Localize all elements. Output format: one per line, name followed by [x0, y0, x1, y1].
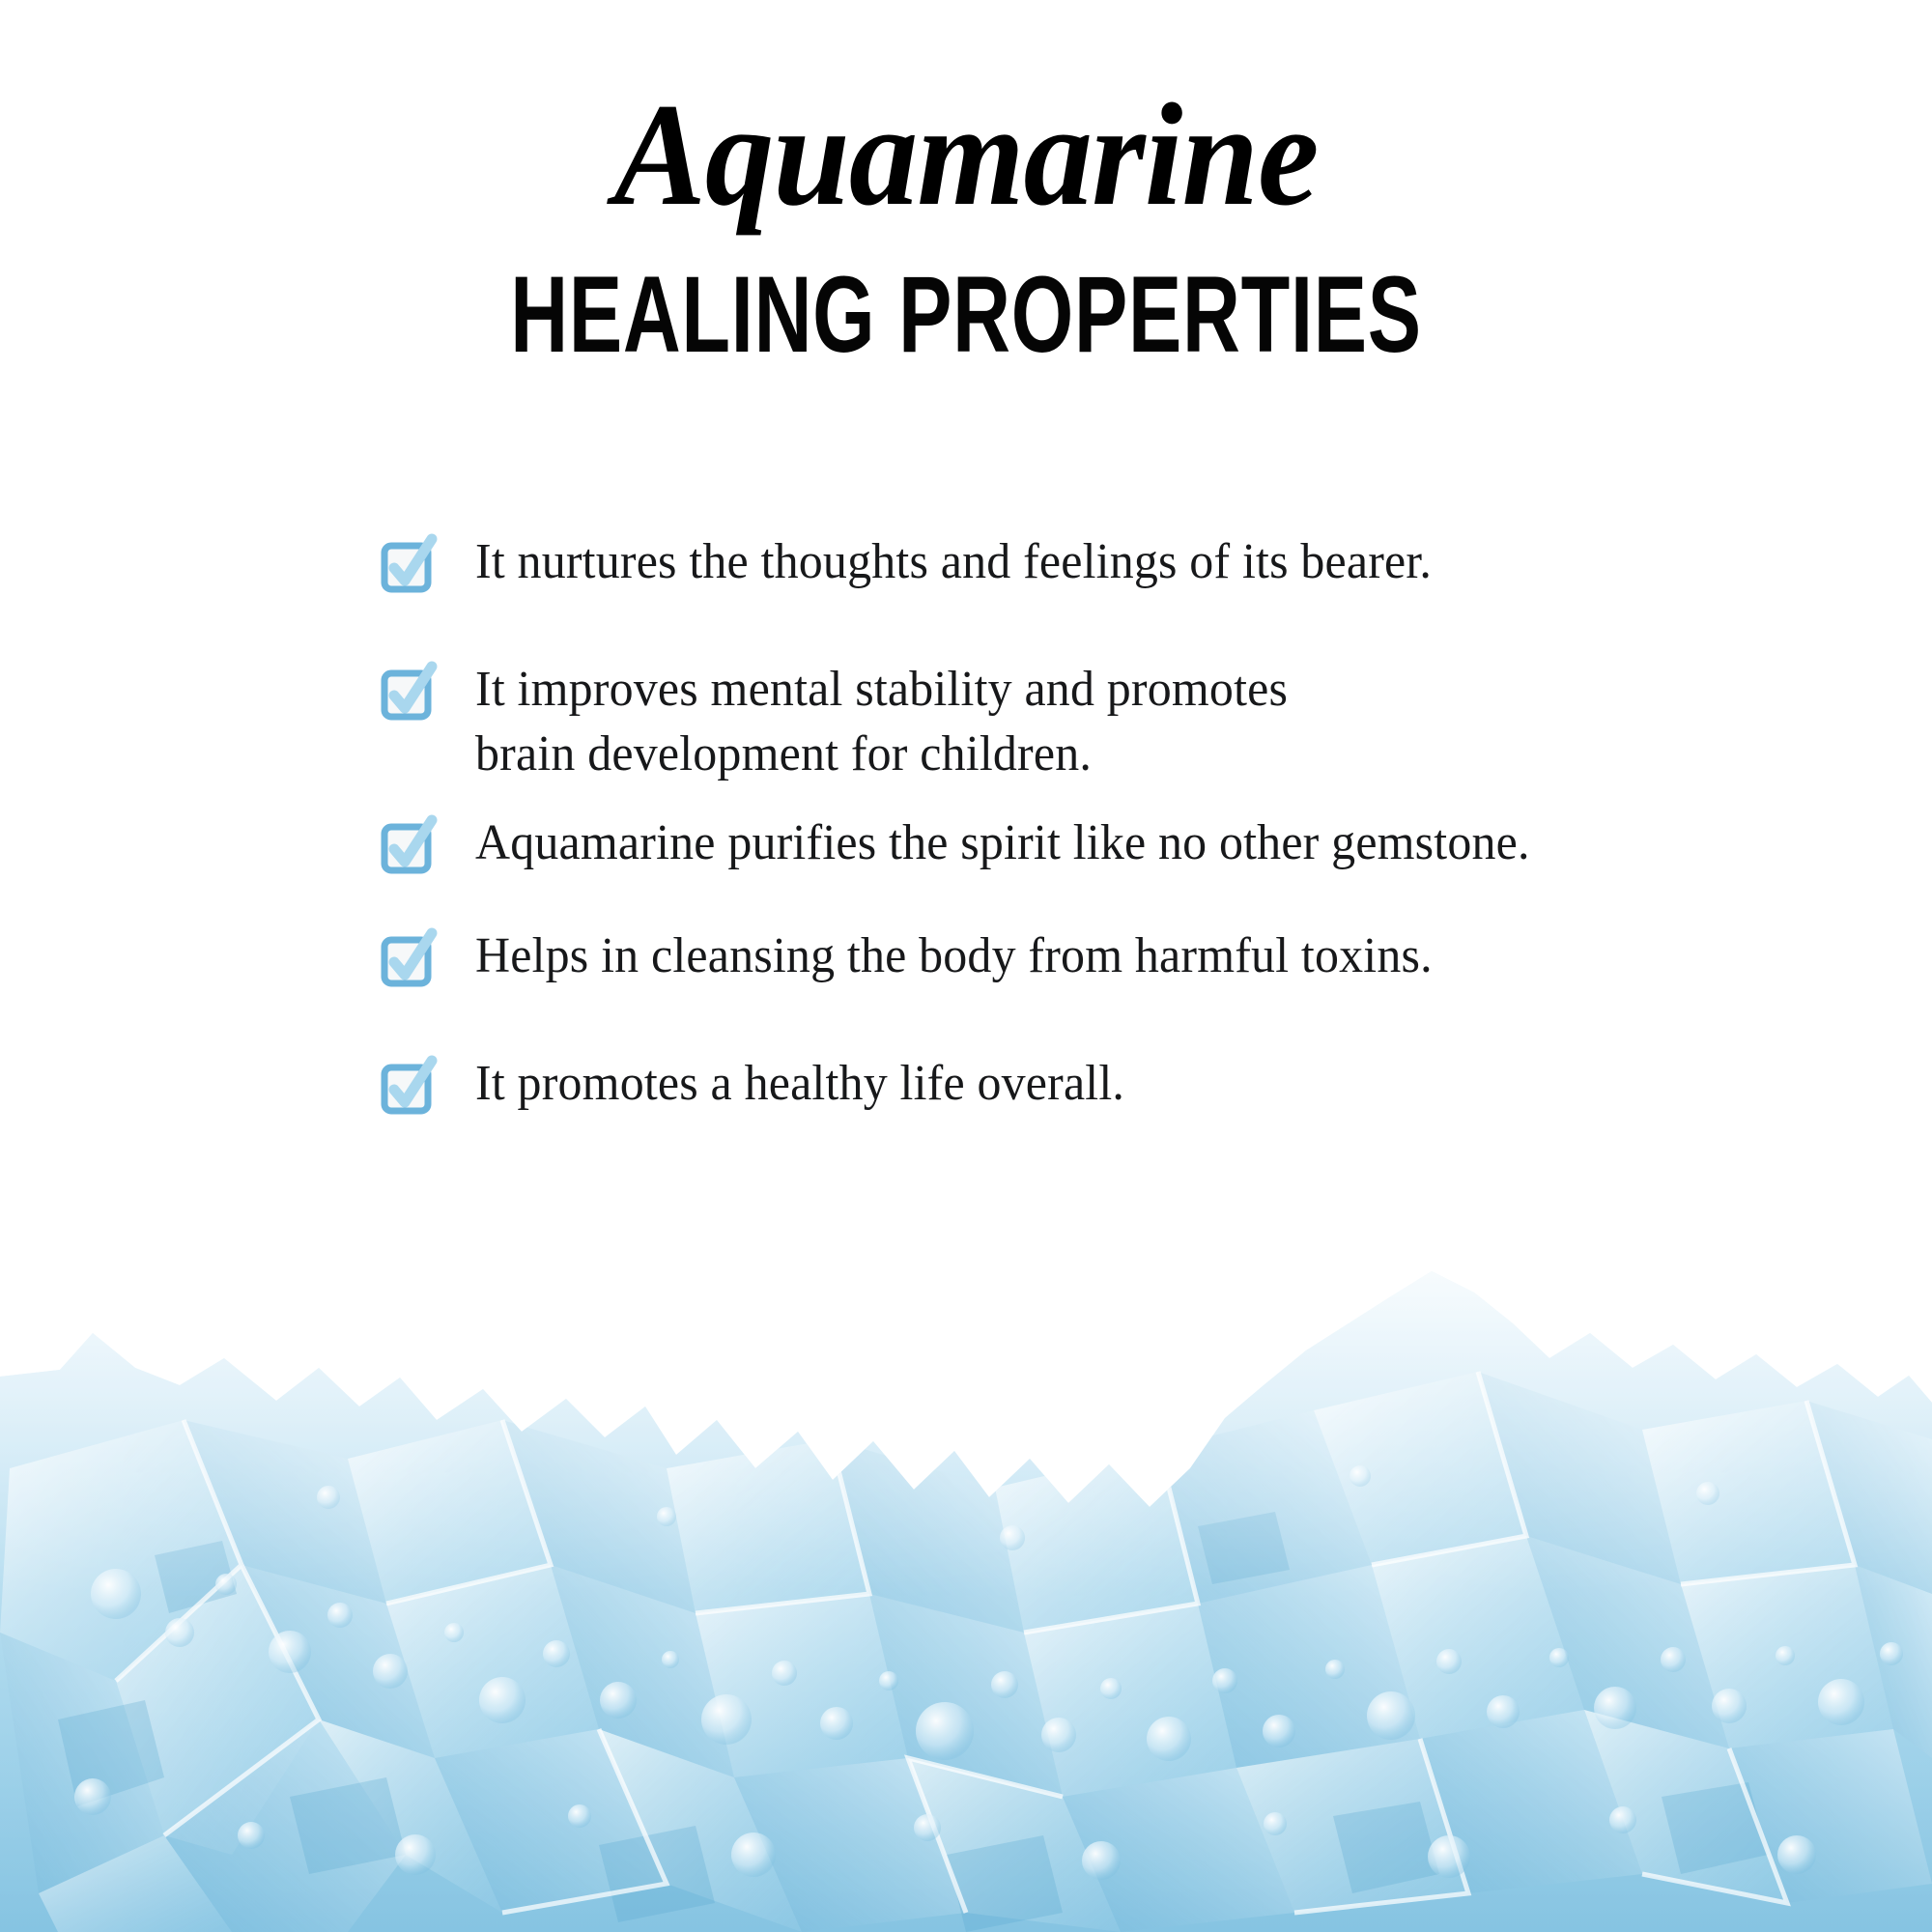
header: Aquamarine HEALING PROPERTIES	[0, 0, 1932, 369]
list-item: It promotes a healthy life overall.	[381, 1051, 1762, 1117]
list-item-label: Helps in cleansing the body from harmful…	[475, 923, 1433, 989]
healing-properties-list: It nurtures the thoughts and feelings of…	[381, 529, 1762, 1117]
poster-canvas: Aquamarine HEALING PROPERTIES It nurture…	[0, 0, 1932, 1932]
checked-checkbox-icon	[381, 931, 437, 987]
checked-checkbox-icon	[381, 665, 437, 721]
list-item-label: Aquamarine purifies the spirit like no o…	[475, 810, 1530, 876]
list-item-label: It improves mental stability and promote…	[475, 657, 1288, 787]
ice-cubes-photo	[0, 1179, 1932, 1932]
checked-checkbox-icon	[381, 1059, 437, 1115]
list-item-label: It nurtures the thoughts and feelings of…	[475, 529, 1432, 595]
list-item: It nurtures the thoughts and feelings of…	[381, 529, 1762, 595]
page-title: Aquamarine	[58, 81, 1874, 228]
list-item: It improves mental stability and promote…	[381, 657, 1762, 787]
checked-checkbox-icon	[381, 537, 437, 593]
list-item: Helps in cleansing the body from harmful…	[381, 923, 1762, 989]
list-item: Aquamarine purifies the spirit like no o…	[381, 810, 1762, 876]
checked-checkbox-icon	[381, 818, 437, 874]
page-subtitle: HEALING PROPERTIES	[251, 228, 1681, 369]
list-item-label: It promotes a healthy life overall.	[475, 1051, 1124, 1117]
